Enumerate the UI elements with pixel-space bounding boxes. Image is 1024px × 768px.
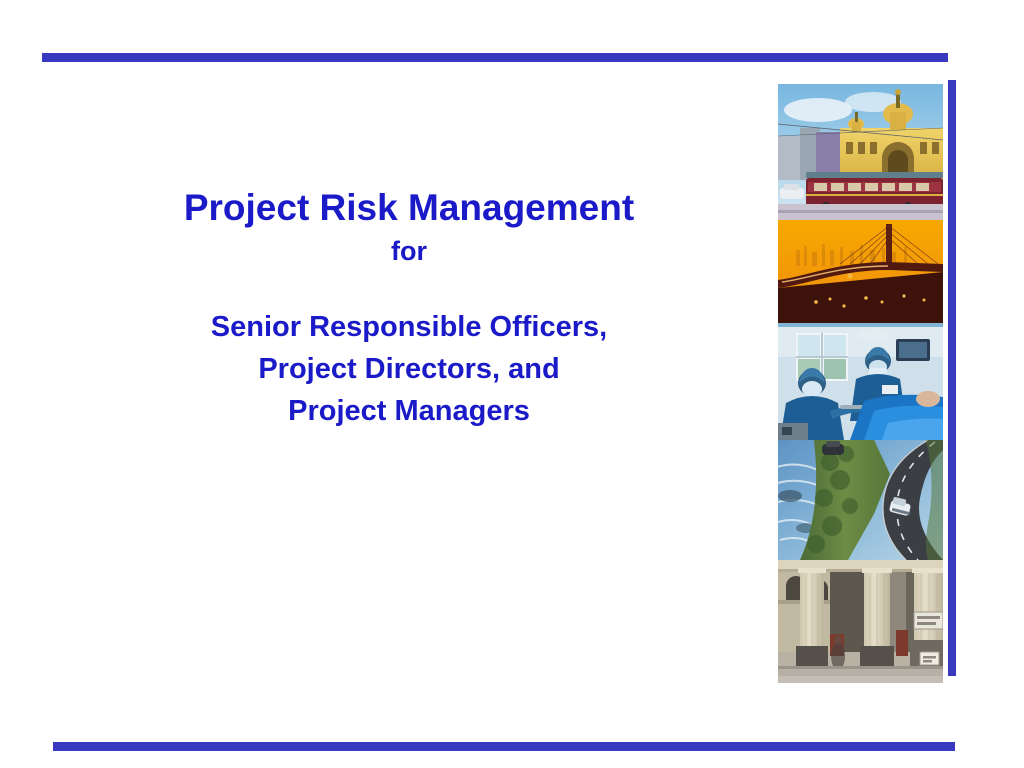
presentation-slide: Project Risk Management for Senior Respo…	[0, 0, 1024, 768]
vertical-rule-right	[948, 80, 956, 676]
subtitle-line-3: Project Managers	[92, 390, 726, 432]
surgical-theatre-photo	[778, 327, 943, 440]
horizontal-rule-bottom	[53, 742, 955, 751]
photo-strip	[778, 84, 943, 683]
horizontal-rule-top	[42, 53, 948, 62]
coastal-road-photo	[778, 440, 943, 560]
title-spacer	[92, 272, 726, 306]
slide-title: Project Risk Management	[92, 186, 726, 230]
railway-station-tram-photo	[778, 84, 943, 220]
subtitle-line-1: Senior Responsible Officers,	[92, 306, 726, 348]
title-connector: for	[92, 230, 726, 272]
subtitle-line-2: Project Directors, and	[92, 348, 726, 390]
courthouse-columns-photo	[778, 560, 943, 683]
bridge-sunset-photo	[778, 220, 943, 327]
title-block: Project Risk Management for Senior Respo…	[92, 186, 726, 432]
